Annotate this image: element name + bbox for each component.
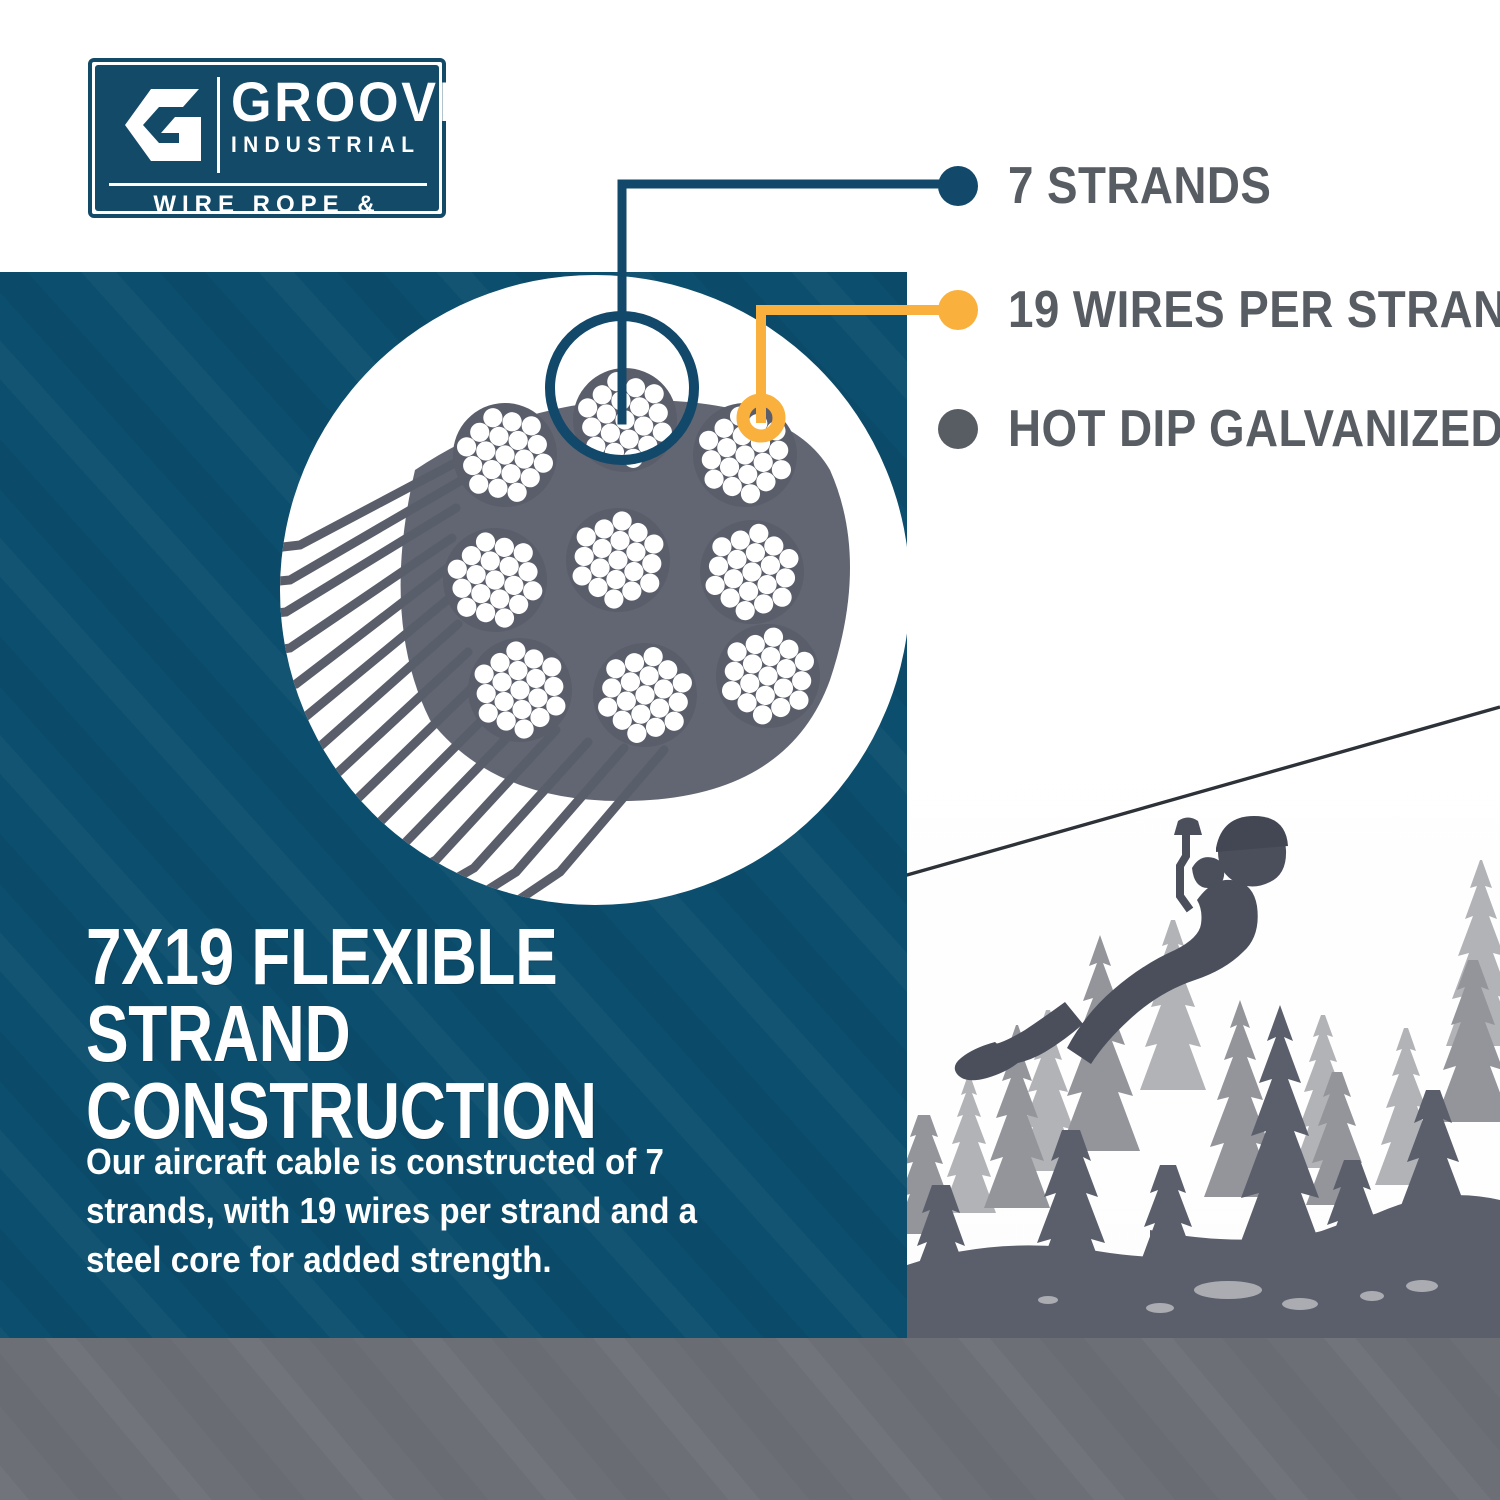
brand-logo[interactable]: GROOVE INDUSTRIAL WIRE ROPE & RIGGING: [88, 58, 446, 218]
callout-label-galvanized: HOT DIP GALVANIZED: [1008, 403, 1500, 455]
headline-line-2: STRAND CONSTRUCTION: [86, 995, 718, 1149]
zipline-cable: [900, 707, 1500, 877]
hexagon-g-icon: [121, 87, 205, 163]
canopy-highlights: [1038, 1280, 1438, 1313]
tree-layer-mid: [895, 935, 1500, 1234]
page-title: 7X19 FLEXIBLE STRAND CONSTRUCTION: [86, 918, 718, 1149]
logo-mark-box: [109, 77, 220, 173]
logo-wordmark-wrap: GROOVE INDUSTRIAL: [231, 73, 427, 177]
headline-line-1: 7X19 FLEXIBLE: [86, 912, 557, 1001]
sky: [907, 690, 1500, 1338]
body-copy: Our aircraft cable is constructed of 7 s…: [86, 1137, 730, 1284]
callout-galvanized[interactable]: HOT DIP GALVANIZED: [938, 400, 1500, 458]
callout-wires[interactable]: 19 WIRES PER STRAND: [938, 281, 1500, 339]
callout-dot-strands: [938, 166, 978, 206]
logo-wordmark: GROOVE: [231, 73, 413, 131]
footer-band: [0, 1338, 1500, 1500]
callout-label-strands: 7 STRANDS: [1008, 160, 1271, 212]
logo-tagline: WIRE ROPE & RIGGING: [95, 191, 439, 247]
footer-stripe-texture: [0, 1338, 1500, 1500]
tree-layer-far: [942, 860, 1500, 1213]
logo-subword: INDUSTRIAL: [231, 131, 417, 159]
callout-strands[interactable]: 7 STRANDS: [938, 157, 1307, 215]
zipline-rider-silhouette: [955, 816, 1288, 1080]
callout-label-wires: 19 WIRES PER STRAND: [1008, 284, 1500, 336]
logo-inner-plate: GROOVE INDUSTRIAL WIRE ROPE & RIGGING: [95, 65, 439, 211]
callout-dot-galvanized: [938, 409, 978, 449]
callout-dot-wires: [938, 290, 978, 330]
tree-layer-near: [904, 1005, 1500, 1340]
logo-divider: [109, 183, 427, 186]
illustration-circle-backdrop: [280, 275, 910, 905]
infographic-canvas: 7 STRANDS 19 WIRES PER STRAND HOT DIP GA…: [0, 0, 1500, 1500]
